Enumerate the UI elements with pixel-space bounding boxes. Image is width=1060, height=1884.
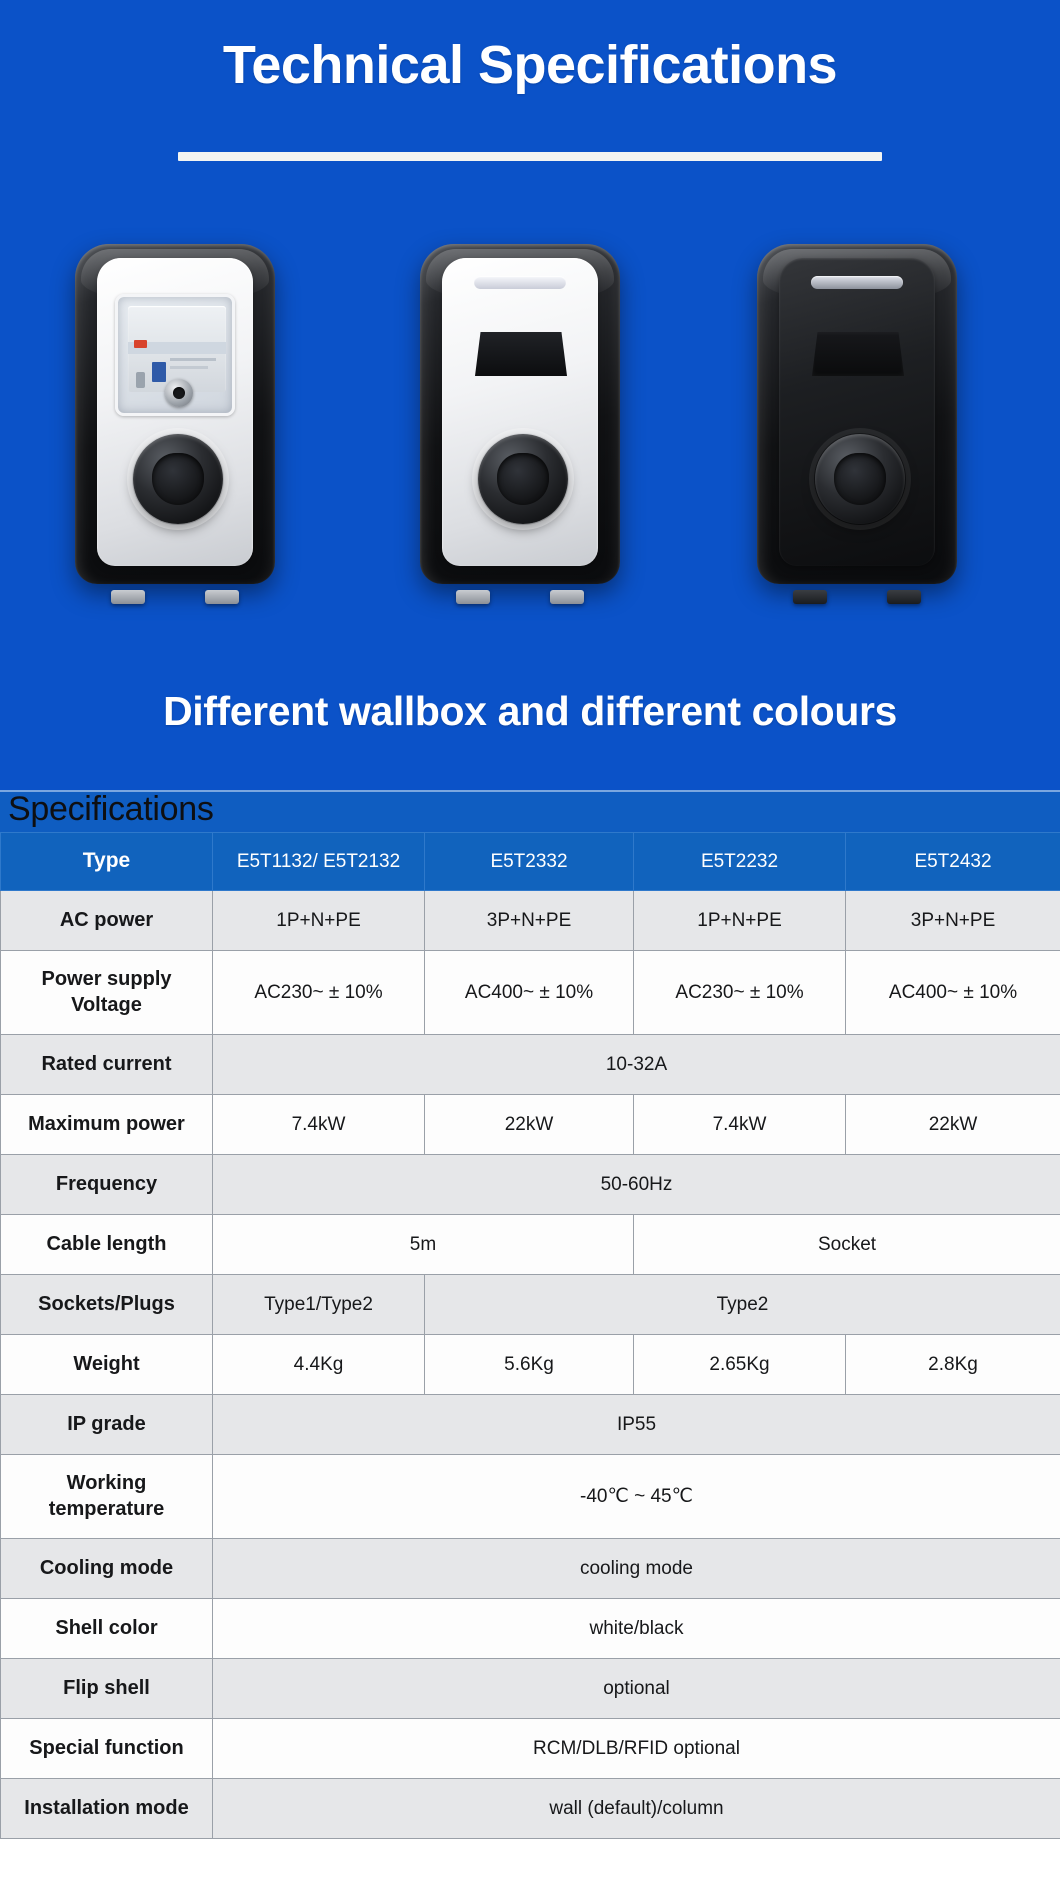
display-screen-icon	[475, 332, 567, 376]
table-cell: 7.4kW	[634, 1095, 846, 1155]
column-header-type: Type	[1, 833, 213, 891]
table-cell: -40℃ ~ 45℃	[213, 1455, 1060, 1539]
table-cell: 3P+N+PE	[425, 891, 634, 951]
table-cell: AC400~ ± 10%	[846, 951, 1060, 1035]
table-cell: 10-32A	[213, 1035, 1060, 1095]
table-row: Frequency50-60Hz	[1, 1155, 1060, 1215]
specifications-label: Specifications	[8, 790, 214, 829]
table-row: Rated current10-32A	[1, 1035, 1060, 1095]
table-cell: IP55	[213, 1395, 1060, 1455]
row-label: Power supplyVoltage	[1, 951, 213, 1035]
status-light-bar-icon	[811, 276, 903, 289]
column-header-model-2: E5T2332	[425, 833, 634, 891]
column-header-model-4: E5T2432	[846, 833, 1060, 891]
table-cell: Socket	[634, 1215, 1060, 1275]
breaker-window-icon	[115, 294, 235, 416]
table-cell: wall (default)/column	[213, 1779, 1060, 1839]
table-cell: 22kW	[846, 1095, 1060, 1155]
row-label: Workingtemperature	[1, 1455, 213, 1539]
specifications-table: Type E5T1132/ E5T2132 E5T2332 E5T2232 E5…	[0, 832, 1060, 1839]
table-cell: Type2	[425, 1275, 1060, 1335]
table-cell: optional	[213, 1659, 1060, 1719]
table-row: Installation modewall (default)/column	[1, 1779, 1060, 1839]
table-cell: 22kW	[425, 1095, 634, 1155]
row-label: Cable length	[1, 1215, 213, 1275]
table-cell: 1P+N+PE	[634, 891, 846, 951]
table-row: IP gradeIP55	[1, 1395, 1060, 1455]
row-label: Rated current	[1, 1035, 213, 1095]
row-label: Shell color	[1, 1599, 213, 1659]
title-divider	[178, 152, 882, 161]
table-cell: AC230~ ± 10%	[213, 951, 425, 1035]
row-label: Cooling mode	[1, 1539, 213, 1599]
product-wallbox-white-panel	[75, 232, 275, 600]
table-body: AC power1P+N+PE3P+N+PE1P+N+PE3P+N+PEPowe…	[1, 891, 1060, 1839]
table-row: Workingtemperature-40℃ ~ 45℃	[1, 1455, 1060, 1539]
row-label: Frequency	[1, 1155, 213, 1215]
mounting-tabs	[793, 590, 921, 608]
row-label: AC power	[1, 891, 213, 951]
table-cell: RCM/DLB/RFID optional	[213, 1719, 1060, 1779]
row-label: Sockets/Plugs	[1, 1275, 213, 1335]
table-row: Shell colorwhite/black	[1, 1599, 1060, 1659]
hero-banner: Technical Specifications	[0, 0, 1060, 790]
socket-bezel	[809, 428, 911, 530]
table-row: Flip shelloptional	[1, 1659, 1060, 1719]
mounting-tabs	[456, 590, 584, 608]
table-cell: 50-60Hz	[213, 1155, 1060, 1215]
column-header-model-1: E5T1132/ E5T2132	[213, 833, 425, 891]
specifications-band: Specifications	[0, 790, 1060, 832]
table-cell: white/black	[213, 1599, 1060, 1659]
table-cell: 5.6Kg	[425, 1335, 634, 1395]
table-row: Cooling modecooling mode	[1, 1539, 1060, 1599]
table-cell: 7.4kW	[213, 1095, 425, 1155]
table-row: Cable length5mSocket	[1, 1215, 1060, 1275]
row-label: Installation mode	[1, 1779, 213, 1839]
table-cell: AC230~ ± 10%	[634, 951, 846, 1035]
wallbox-front-panel	[442, 258, 598, 566]
product-image-group	[0, 232, 1060, 632]
table-cell: 5m	[213, 1215, 634, 1275]
product-wallbox-white	[420, 232, 620, 600]
table-row: Power supplyVoltageAC230~ ± 10%AC400~ ± …	[1, 951, 1060, 1035]
technical-specifications-page: Technical Specifications	[0, 0, 1060, 1884]
wallbox-front-panel	[779, 258, 935, 566]
table-cell: 2.8Kg	[846, 1335, 1060, 1395]
table-cell: cooling mode	[213, 1539, 1060, 1599]
table-cell: 3P+N+PE	[846, 891, 1060, 951]
table-header-row: Type E5T1132/ E5T2132 E5T2332 E5T2232 E5…	[1, 833, 1060, 891]
product-wallbox-black	[757, 232, 957, 600]
wallbox-front-panel	[97, 258, 253, 566]
table-row: Sockets/PlugsType1/Type2Type2	[1, 1275, 1060, 1335]
status-light-bar-icon	[474, 276, 566, 289]
hero-subtitle: Different wallbox and different colours	[0, 688, 1060, 735]
table-cell: AC400~ ± 10%	[425, 951, 634, 1035]
table-cell: 2.65Kg	[634, 1335, 846, 1395]
socket-bezel	[127, 428, 229, 530]
column-header-model-3: E5T2232	[634, 833, 846, 891]
page-title: Technical Specifications	[0, 34, 1060, 96]
table-cell: 1P+N+PE	[213, 891, 425, 951]
table-row: Weight4.4Kg5.6Kg2.65Kg2.8Kg	[1, 1335, 1060, 1395]
row-label: Maximum power	[1, 1095, 213, 1155]
lock-icon	[165, 379, 193, 407]
socket-bezel	[472, 428, 574, 530]
table-cell: Type1/Type2	[213, 1275, 425, 1335]
table-row: Special functionRCM/DLB/RFID optional	[1, 1719, 1060, 1779]
table-row: AC power1P+N+PE3P+N+PE1P+N+PE3P+N+PE	[1, 891, 1060, 951]
row-label: Weight	[1, 1335, 213, 1395]
table-row: Maximum power7.4kW22kW7.4kW22kW	[1, 1095, 1060, 1155]
row-label: IP grade	[1, 1395, 213, 1455]
table-header: Type E5T1132/ E5T2132 E5T2332 E5T2232 E5…	[1, 833, 1060, 891]
display-screen-icon	[812, 332, 904, 376]
table-cell: 4.4Kg	[213, 1335, 425, 1395]
row-label: Flip shell	[1, 1659, 213, 1719]
mounting-tabs	[111, 590, 239, 608]
row-label: Special function	[1, 1719, 213, 1779]
